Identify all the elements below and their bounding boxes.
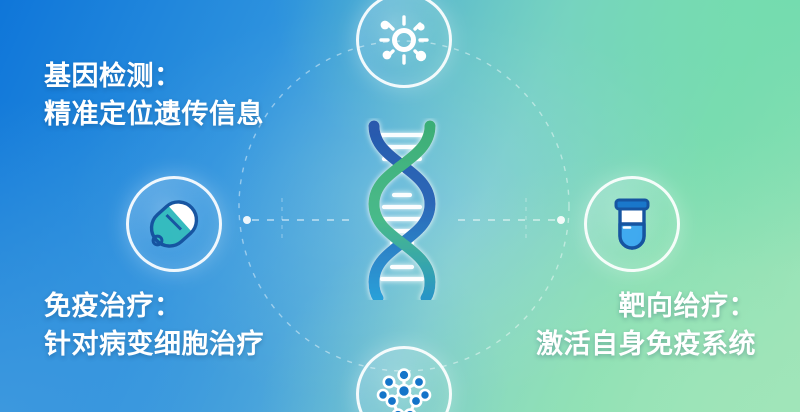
icon-badge-left[interactable] [126,176,222,272]
caption-targeted-therapy-line2: 激活自身免疫系统 [536,325,756,363]
caption-immunotherapy-line2: 针对病变细胞治疗 [44,325,264,363]
icon-badge-right[interactable] [584,176,680,272]
molecule-network-icon [374,364,434,412]
test-tube-icon [605,196,659,252]
caption-targeted-therapy-line1: 靶向给疗： [536,287,756,325]
caption-immunotherapy: 免疫治疗： 针对病变细胞治疗 [44,287,264,364]
icon-badge-top[interactable] [356,0,452,88]
dashed-line-left [243,216,350,224]
cell-radiate-icon [375,11,433,69]
caption-immunotherapy-line1: 免疫治疗： [44,287,264,325]
dna-helix-icon [352,118,452,300]
icon-badge-bottom[interactable] [356,346,452,412]
caption-gene-testing: 基因检测： 精准定位遗传信息 [44,57,264,134]
caption-targeted-therapy: 靶向给疗： 激活自身免疫系统 [536,287,756,364]
dashed-line-right [458,216,565,224]
caption-gene-testing-line1: 基因检测： [44,57,264,95]
infographic-canvas: 基因检测： 精准定位遗传信息 免疫治疗： 针对病变细胞治疗 靶向给疗： 激活自身… [0,0,800,412]
pill-capsule-icon [144,194,204,254]
caption-gene-testing-line2: 精准定位遗传信息 [44,95,264,133]
